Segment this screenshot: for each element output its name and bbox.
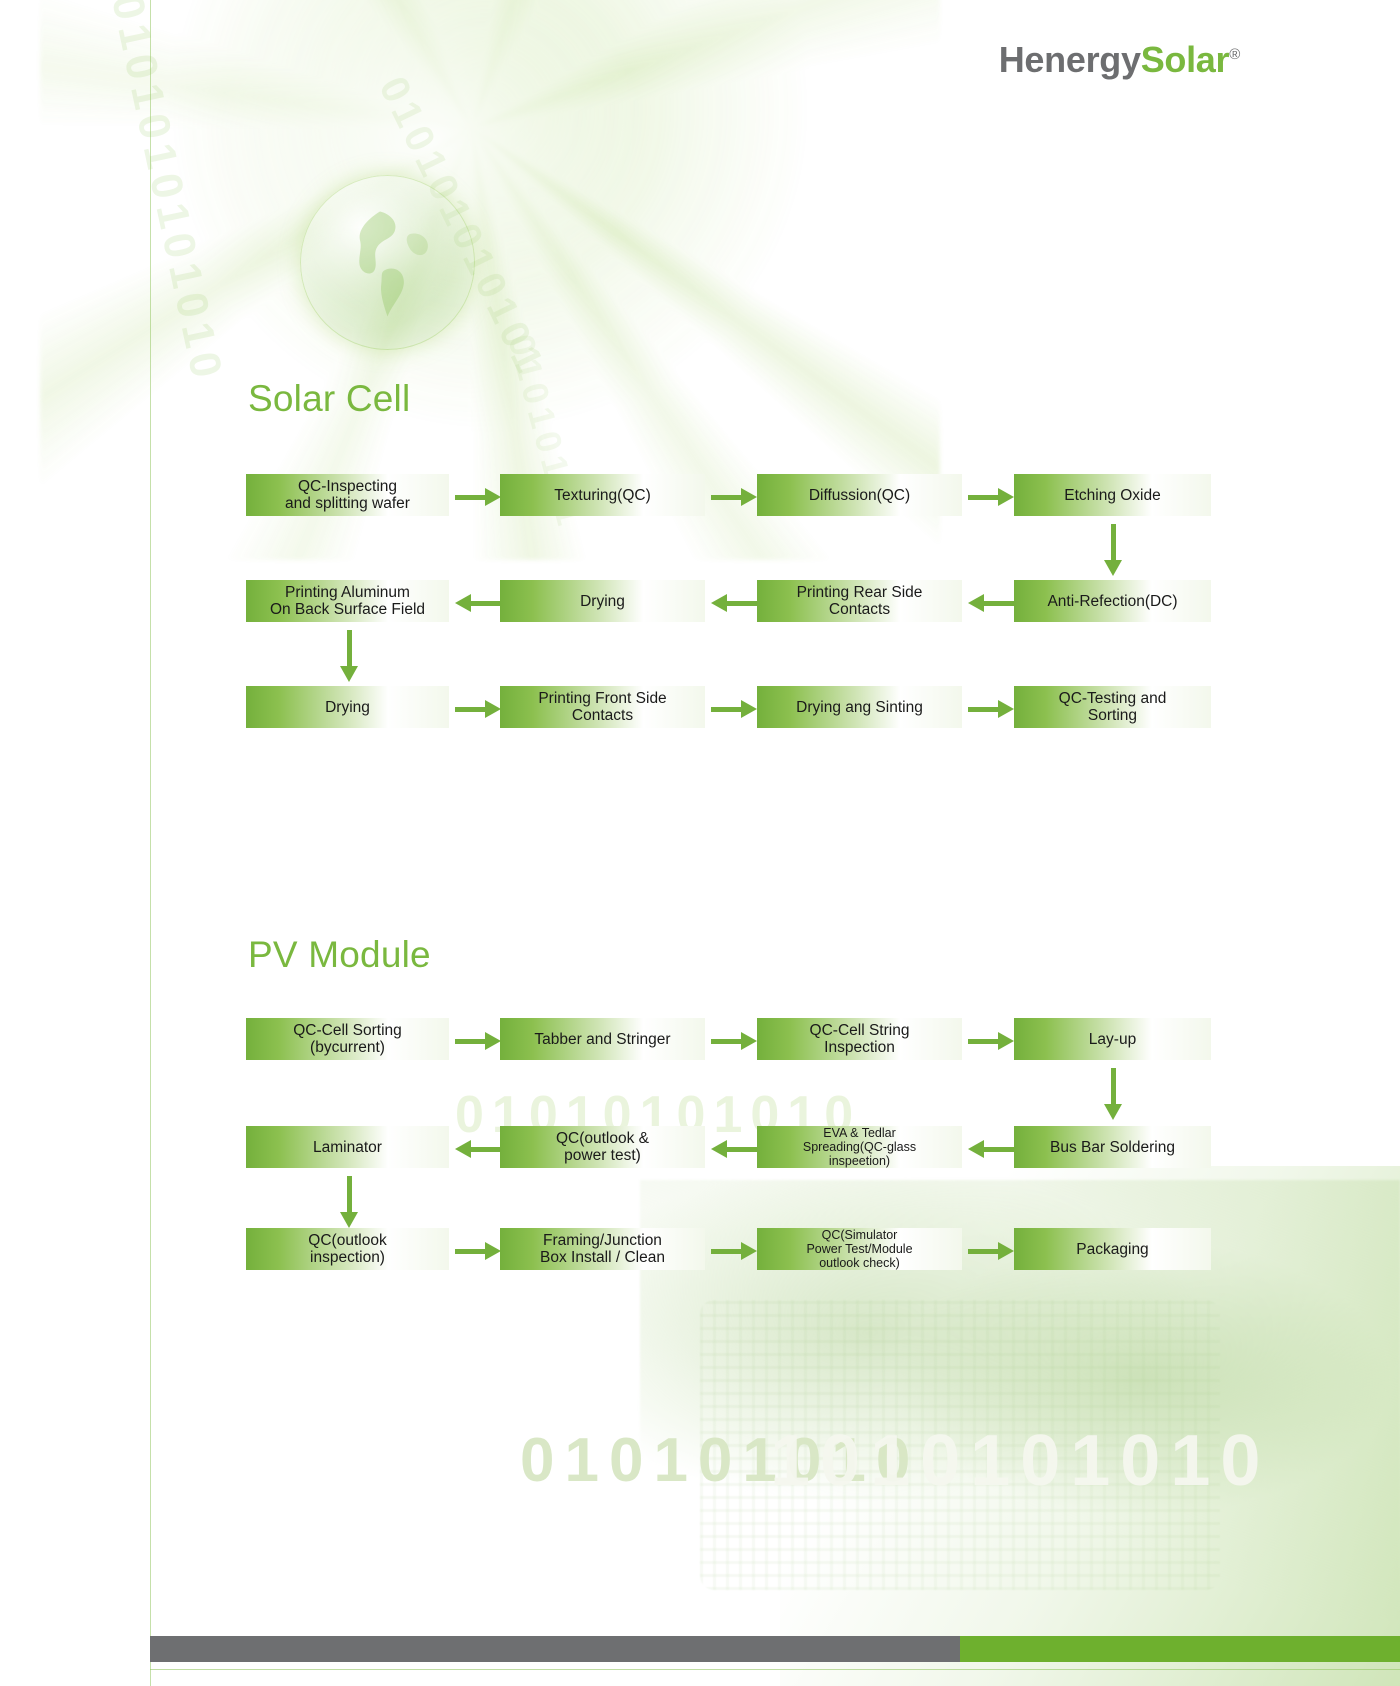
flow-node-drying-1[interactable]: Drying [500,580,705,622]
flow-arrow-down [1104,1068,1123,1120]
flow-arrow-right [968,488,1014,507]
flow-node-lay-up[interactable]: Lay-up [1014,1018,1211,1060]
flow-node-tabber-and-stringer[interactable]: Tabber and Stringer [500,1018,705,1060]
footer-bar-gray-segment [150,1636,960,1662]
flow-arrow-right [968,700,1014,719]
footer-bar-green-segment [960,1636,1400,1662]
flow-arrow-left [711,1140,757,1159]
flow-node-qc-simulator-power-test[interactable]: QC(SimulatorPower Test/Moduleoutlook che… [757,1228,962,1270]
flow-node-qc-testing-and-sorting[interactable]: QC-Testing andSorting [1014,686,1211,728]
flow-arrow-right [968,1032,1014,1051]
flow-arrow-down [1104,524,1123,576]
flow-node-qc-outlook-power-test[interactable]: QC(outlook &power test) [500,1126,705,1168]
flow-arrow-left [455,1140,501,1159]
flow-node-bus-bar-soldering[interactable]: Bus Bar Soldering [1014,1126,1211,1168]
flow-node-framing-junction-box[interactable]: Framing/JunctionBox Install / Clean [500,1228,705,1270]
flow-node-eva-tedlar-spreading[interactable]: EVA & TedlarSpreading(QC-glassinspeetion… [757,1126,962,1168]
flow-arrow-right [455,488,501,507]
flow-arrow-left [968,1140,1014,1159]
flow-node-qc-outlook-inspection[interactable]: QC(outlookinspection) [246,1228,449,1270]
flow-arrow-down [340,1176,359,1228]
process-flow-diagram: QC-Inspectingand splitting wafer Texturi… [0,0,1400,1686]
flow-arrow-right [711,1242,757,1261]
flow-node-etching-oxide[interactable]: Etching Oxide [1014,474,1211,516]
footer-hairline [150,1669,1400,1670]
flow-arrow-right [711,700,757,719]
flow-node-drying-and-sinting[interactable]: Drying ang Sinting [757,686,962,728]
flow-node-qc-inspecting[interactable]: QC-Inspectingand splitting wafer [246,474,449,516]
flow-node-qc-cell-string-inspection[interactable]: QC-Cell StringInspection [757,1018,962,1060]
flow-node-drying-2[interactable]: Drying [246,686,449,728]
flow-arrow-left [455,594,501,613]
flow-node-laminator[interactable]: Laminator [246,1126,449,1168]
flow-arrow-left [968,594,1014,613]
flow-arrow-right [711,1032,757,1051]
flow-arrow-right [455,700,501,719]
flow-arrow-right [711,488,757,507]
flow-arrow-down [340,630,359,682]
flow-node-texturing[interactable]: Texturing(QC) [500,474,705,516]
flow-arrow-right [968,1242,1014,1261]
flow-node-packaging[interactable]: Packaging [1014,1228,1211,1270]
flow-node-anti-refection[interactable]: Anti-Refection(DC) [1014,580,1211,622]
flow-node-printing-aluminum[interactable]: Printing AluminumOn Back Surface Field [246,580,449,622]
flow-node-printing-front-side-contacts[interactable]: Printing Front SideContacts [500,686,705,728]
flow-node-qc-cell-sorting[interactable]: QC-Cell Sorting(bycurrent) [246,1018,449,1060]
flow-arrow-right [455,1032,501,1051]
flow-node-printing-rear-side-contacts[interactable]: Printing Rear SideContacts [757,580,962,622]
footer-bar [150,1636,1400,1662]
flow-node-diffussion[interactable]: Diffussion(QC) [757,474,962,516]
flow-arrow-left [711,594,757,613]
flow-arrow-right [455,1242,501,1261]
